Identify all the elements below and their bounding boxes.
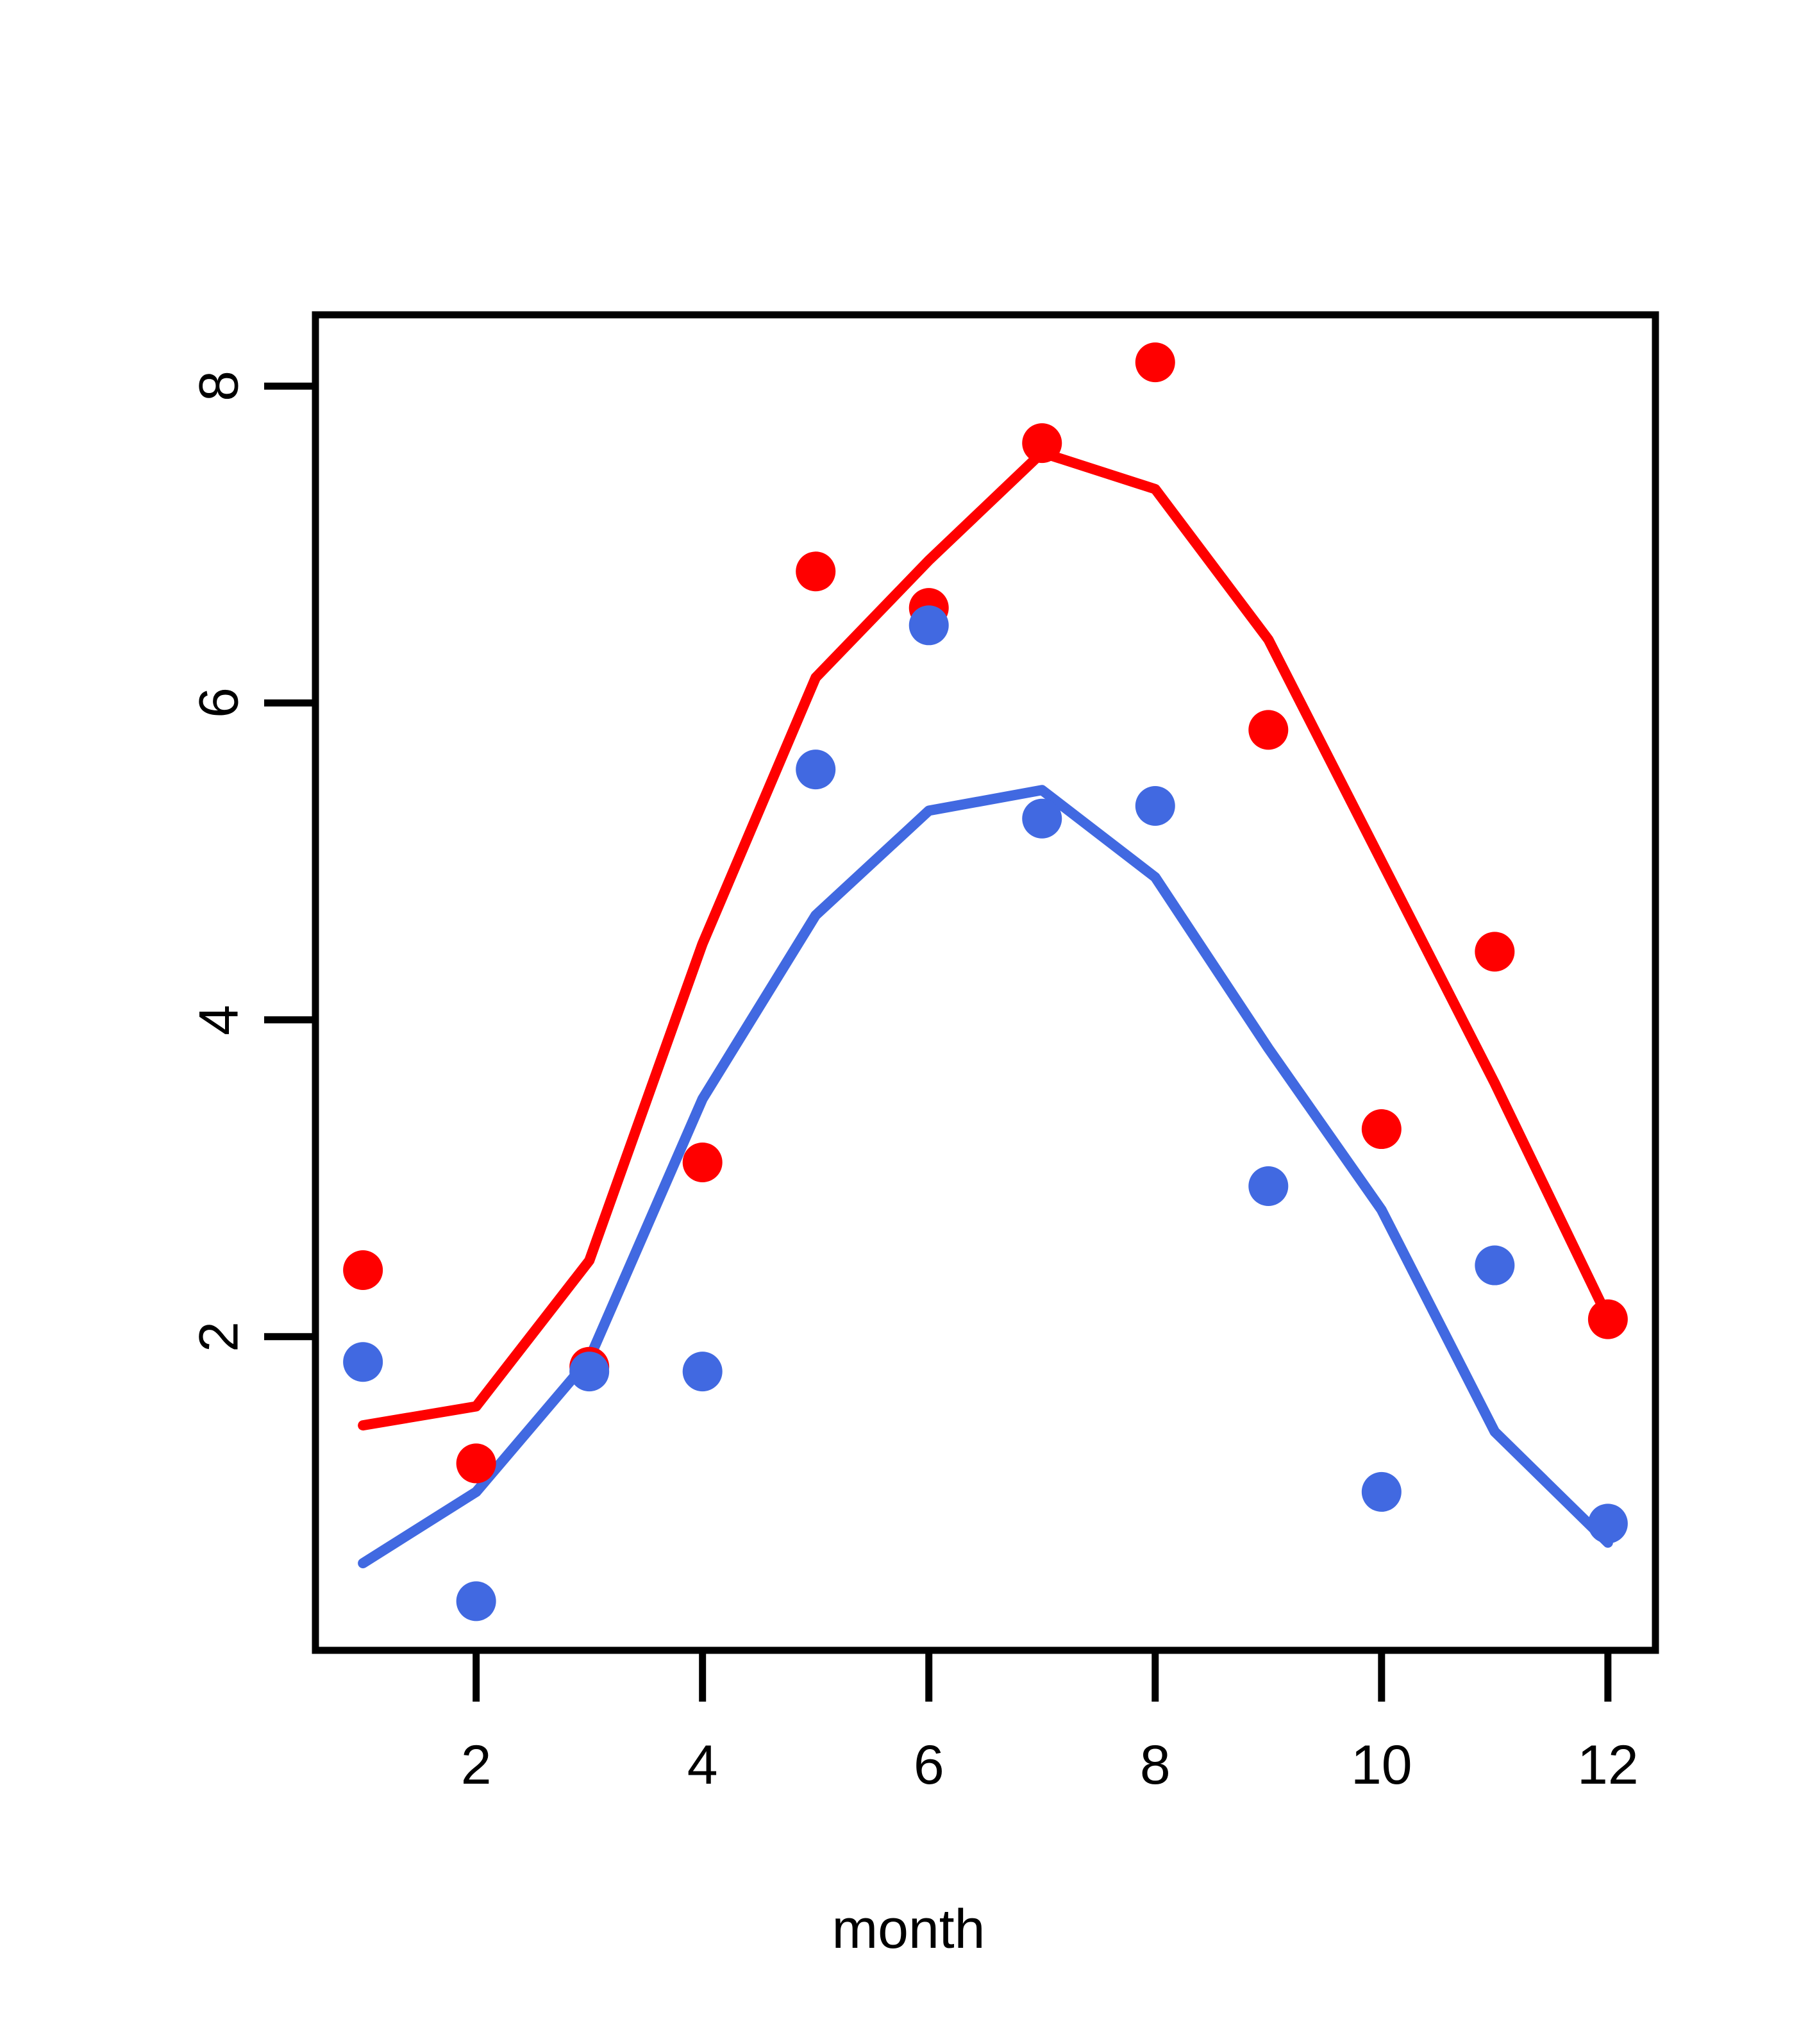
data-point-red-points-5 (796, 551, 835, 591)
y-tick-label-4: 4 (188, 1005, 251, 1035)
data-point-blue-points-6 (909, 605, 949, 645)
x-tick-label-8: 8 (1140, 1734, 1171, 1797)
x-tick-label-12: 12 (1577, 1734, 1639, 1797)
data-point-red-points-9 (1248, 710, 1288, 750)
data-point-red-points-2 (456, 1443, 496, 1483)
x-axis-label: month (0, 1898, 1817, 1961)
x-tick-label-6: 6 (914, 1734, 944, 1797)
data-point-red-points-11 (1475, 932, 1514, 971)
data-point-blue-points-8 (1135, 786, 1175, 826)
data-point-blue-points-7 (1022, 799, 1062, 839)
data-point-red-points-7 (1022, 423, 1062, 463)
data-point-blue-points-10 (1362, 1472, 1402, 1512)
data-point-blue-points-2 (456, 1581, 496, 1621)
data-point-blue-points-4 (683, 1352, 723, 1391)
data-point-blue-points-11 (1475, 1246, 1514, 1286)
chart-canvas (0, 0, 1817, 2044)
x-tick-label-10: 10 (1351, 1734, 1412, 1797)
x-tick-label-2: 2 (461, 1734, 492, 1797)
x-tick-label-4: 4 (687, 1734, 718, 1797)
data-point-red-points-8 (1135, 342, 1175, 382)
data-point-red-points-1 (343, 1250, 383, 1290)
y-tick-label-2: 2 (188, 1321, 251, 1352)
data-point-blue-points-3 (569, 1352, 609, 1391)
data-point-red-points-10 (1362, 1109, 1402, 1149)
y-tick-label-6: 6 (188, 687, 251, 718)
data-point-blue-points-12 (1588, 1504, 1628, 1543)
data-point-blue-points-1 (343, 1342, 383, 1382)
data-point-red-points-4 (683, 1143, 723, 1182)
y-tick-label-8: 8 (188, 371, 251, 401)
data-point-red-points-12 (1588, 1300, 1628, 1339)
plot-figure: GHCN-D_ASN00080026_05_nr 2468 24681012 m… (0, 0, 1817, 2044)
data-point-blue-points-9 (1248, 1166, 1288, 1206)
data-point-blue-points-5 (796, 750, 835, 789)
